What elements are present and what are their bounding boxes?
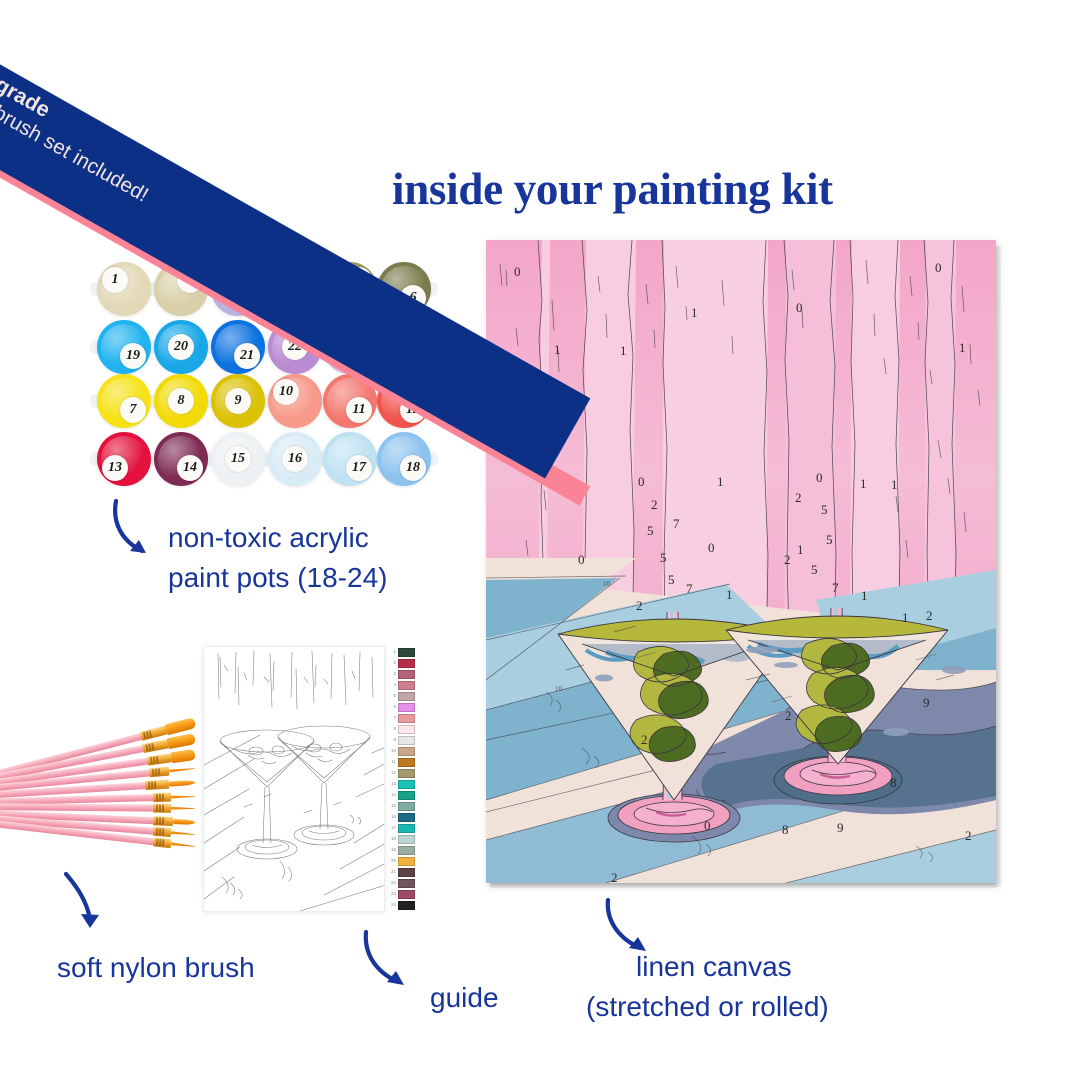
guide-swatch-chip-21: [398, 868, 415, 877]
guide-swatch-chip-14: [398, 791, 415, 800]
brush-ferrule: [153, 816, 173, 826]
guide-swatch-chip-8: [398, 725, 415, 734]
brush-ferrule-band: [149, 731, 152, 738]
guide-swatch-index: 16: [387, 815, 396, 820]
paint-pot-13[interactable]: 13: [97, 432, 151, 486]
guide-swatch-chip-15: [398, 802, 415, 811]
page-title: inside your painting kit: [392, 163, 833, 215]
guide-swatch-chip-20: [398, 857, 415, 866]
brush-bristle-tip: [166, 733, 196, 749]
brush-ferrule-band: [162, 828, 164, 835]
brush-ferrule-band: [156, 794, 158, 801]
brush-ferrule-band: [156, 805, 158, 812]
guide-swatch-index: 12: [387, 771, 396, 776]
paint-pot-number-label: 9: [225, 388, 251, 414]
brush-ferrule-band: [162, 818, 164, 825]
paint-pot-row: 123456: [97, 262, 429, 322]
brush-ferrule: [153, 793, 171, 802]
brush-ferrule-band: [159, 805, 161, 812]
brush-bristle-tip: [171, 842, 195, 848]
brush-ferrule-band: [148, 782, 150, 789]
brush-ferrule: [153, 804, 171, 813]
brush-ferrule-band: [162, 839, 164, 846]
paint-pot-number-label: 6: [400, 285, 426, 311]
paint-pot-row: 789101112: [97, 374, 429, 434]
guide-swatch-row: 21: [387, 868, 417, 877]
brush-ferrule-band: [155, 769, 157, 776]
paint-pot-7[interactable]: 7: [97, 374, 151, 428]
brush-bristle-tip: [169, 767, 195, 772]
brush-ferrule: [145, 780, 170, 790]
guide-swatch-index: 13: [387, 782, 396, 787]
brush-ferrule-band: [152, 769, 154, 776]
paint-pot-number-label: 15: [225, 446, 251, 472]
paint-pot-24[interactable]: 24: [377, 320, 431, 374]
guide-swatch-index: 17: [387, 826, 396, 831]
guide-swatch-row: 20: [387, 857, 417, 866]
guide-swatch-chip-9: [398, 736, 415, 745]
brush-ferrule-band: [156, 839, 158, 846]
paint-pot-10[interactable]: 10: [268, 374, 322, 428]
brush-ferrule-band: [158, 768, 160, 775]
paint-pot-number-label: 21: [234, 343, 260, 369]
paint-pot-number-label: 14: [177, 455, 203, 481]
guide-caption-text: guide: [430, 978, 499, 1018]
paint-pot-12[interactable]: 12: [377, 374, 431, 428]
guide-swatch-index: 8: [387, 727, 396, 732]
brush-ferrule-band: [159, 839, 161, 846]
guide-swatch-index: 2: [387, 661, 396, 666]
guide-swatch-row: 13: [387, 780, 417, 789]
guide-swatch-chip-23: [398, 890, 415, 899]
guide-swatch-chip-2: [398, 659, 415, 668]
guide-swatch-row: 3: [387, 670, 417, 679]
guide-swatch-row: 10: [387, 747, 417, 756]
guide-swatch-row: 12: [387, 769, 417, 778]
paint-pot-4[interactable]: 4: [268, 262, 322, 316]
paint-pot-23[interactable]: 23: [323, 320, 377, 374]
guide-swatch-row: 7: [387, 714, 417, 723]
guide-swatch-index: 1: [387, 650, 396, 655]
guide-swatch-index: 19: [387, 848, 396, 853]
canvas-caption: linen canvas (stretched or rolled): [636, 947, 879, 1027]
guide-swatch-index: 5: [387, 694, 396, 699]
guide-swatch-row: 22: [387, 879, 417, 888]
paint-pot-number-label: 18: [400, 455, 426, 481]
brush-set: [0, 672, 195, 862]
guide-swatch-row: 1: [387, 648, 417, 657]
guide-swatch-index: 7: [387, 716, 396, 721]
paint-pot-22[interactable]: 22: [268, 320, 322, 374]
paint-pots-caption-line1: non-toxic acrylic: [168, 518, 387, 558]
paint-pot-number-label: 8: [168, 388, 194, 414]
guide-swatch-chip-13: [398, 780, 415, 789]
paint-pot-number-label: 13: [102, 455, 128, 481]
paint-pot-3[interactable]: 3: [211, 262, 265, 316]
brush-bristle-tip: [169, 780, 195, 787]
guide-caption: guide: [430, 978, 499, 1018]
brush-bristle-tip: [171, 795, 195, 799]
guide-swatch-row: 11: [387, 758, 417, 767]
guide-swatch-row: 19: [387, 846, 417, 855]
paint-pot-number-label: 2: [177, 267, 203, 293]
brush-ferrule: [153, 827, 172, 837]
canvas-paint-by-numbers-art: [486, 240, 996, 883]
guide-swatch-chip-7: [398, 714, 415, 723]
guide-swatch-index: 14: [387, 793, 396, 798]
brush-ferrule-band: [156, 817, 158, 824]
canvas-bottom-edge: [490, 883, 996, 888]
guide-swatch-index: 23: [387, 892, 396, 897]
paint-pot-21[interactable]: 21: [211, 320, 265, 374]
brush-ferrule-band: [156, 828, 158, 835]
paint-pot-number-label: 19: [120, 343, 146, 369]
guide-swatch-row: 16: [387, 813, 417, 822]
guide-swatch-chip-24: [398, 901, 415, 910]
paint-pot-1[interactable]: 1: [97, 262, 151, 316]
guide-color-swatch-column: 123456789101112131415161718192021222324: [387, 648, 417, 910]
paint-pot-number-label: 7: [120, 397, 146, 423]
linen-canvas: 0100111001011225755557570121112222989802…: [486, 240, 996, 883]
brush-caption-text: soft nylon brush: [57, 948, 255, 988]
brush-caption: soft nylon brush: [57, 948, 255, 988]
guide-swatch-row: 15: [387, 802, 417, 811]
brush-ferrule-band: [159, 828, 161, 835]
canvas-caption-line1: linen canvas: [636, 947, 879, 987]
brush-ferrule-band: [151, 743, 154, 750]
guide-sheet: [203, 646, 385, 912]
guide-swatch-index: 6: [387, 705, 396, 710]
paint-pot-number-label: 12: [400, 397, 426, 423]
brush-ferrule-band: [162, 805, 164, 812]
guide-swatch-index: 24: [387, 903, 396, 908]
arrow-to-paint-pots: [108, 497, 168, 569]
guide-swatch-index: 22: [387, 881, 396, 886]
paint-pot-20[interactable]: 20: [154, 320, 208, 374]
paint-pots-caption: non-toxic acrylic paint pots (18-24): [168, 518, 387, 598]
guide-swatch-row: 5: [387, 692, 417, 701]
guide-swatch-index: 21: [387, 870, 396, 875]
paint-pot-2[interactable]: 2: [154, 262, 208, 316]
guide-line-art: [204, 647, 385, 912]
paint-pot-6[interactable]: 6: [377, 262, 431, 316]
guide-swatch-index: 18: [387, 837, 396, 842]
guide-swatch-row: 8: [387, 725, 417, 734]
paint-pot-19[interactable]: 19: [97, 320, 151, 374]
guide-swatch-chip-17: [398, 824, 415, 833]
paint-pot-11[interactable]: 11: [323, 374, 377, 428]
guide-swatch-chip-6: [398, 703, 415, 712]
canvas-artwork: 0100111001011225755557570121112222989802…: [486, 240, 996, 883]
paint-pot-number-label: 4: [282, 276, 308, 302]
brush-ferrule: [142, 739, 168, 753]
paint-pot-row: 131415161718: [97, 430, 429, 490]
brush-ferrule-band: [153, 757, 155, 764]
guide-swatch-chip-12: [398, 769, 415, 778]
paint-pot-number-label: 3: [234, 267, 260, 293]
guide-swatch-index: 3: [387, 672, 396, 677]
guide-swatch-chip-18: [398, 835, 415, 844]
paint-pot-15[interactable]: 15: [211, 432, 265, 486]
brush-ferrule-band: [159, 794, 161, 801]
brush-ferrule: [153, 837, 172, 848]
guide-swatch-chip-19: [398, 846, 415, 855]
brush-bristle-tip: [173, 819, 195, 825]
arrow-to-brushes: [60, 872, 116, 938]
paint-pot-number-label: 10: [273, 379, 299, 405]
guide-swatch-chip-5: [398, 692, 415, 701]
paint-pots-caption-line2: paint pots (18-24): [168, 558, 387, 598]
guide-swatch-row: 4: [387, 681, 417, 690]
guide-swatch-index: 10: [387, 749, 396, 754]
brush-bristle-tip: [165, 717, 197, 735]
guide-swatch-index: 9: [387, 738, 396, 743]
paint-pot-9[interactable]: 9: [211, 374, 265, 428]
guide-swatch-chip-22: [398, 879, 415, 888]
guide-swatch-chip-3: [398, 670, 415, 679]
guide-swatch-row: 24: [387, 901, 417, 910]
guide-swatch-chip-1: [398, 648, 415, 657]
brush-ferrule-band: [156, 756, 158, 763]
guide-swatch-row: 2: [387, 659, 417, 668]
paint-pot-18[interactable]: 18: [377, 432, 431, 486]
brush-ferrule-band: [162, 794, 164, 801]
paint-pot-number-label: 23: [337, 334, 363, 360]
guide-swatch-row: 17: [387, 824, 417, 833]
paint-pot-grid: 123456192021222324789101112131415161718: [97, 262, 429, 484]
paint-pot-number-label: 24: [400, 343, 426, 369]
arrow-to-guide: [360, 930, 422, 996]
brush-ferrule-band: [154, 781, 156, 788]
guide-swatch-index: 20: [387, 859, 396, 864]
brush-ferrule: [140, 726, 167, 741]
guide-swatch-row: 6: [387, 703, 417, 712]
guide-swatch-index: 15: [387, 804, 396, 809]
paint-pot-number-label: 17: [346, 455, 372, 481]
paint-pot-16[interactable]: 16: [268, 432, 322, 486]
paint-pot-17[interactable]: 17: [323, 432, 377, 486]
brush-ferrule-band: [159, 817, 161, 824]
guide-swatch-row: 23: [387, 890, 417, 899]
canvas-caption-line2: (stretched or rolled): [586, 987, 829, 1027]
paint-pot-number-label: 5: [346, 267, 372, 293]
guide-swatch-chip-10: [398, 747, 415, 756]
paint-pot-number-label: 20: [168, 334, 194, 360]
guide-swatch-row: 14: [387, 791, 417, 800]
paint-pot-number-label: 22: [282, 334, 308, 360]
paint-pot-number-label: 1: [102, 267, 128, 293]
guide-swatch-chip-16: [398, 813, 415, 822]
guide-swatch-row: 9: [387, 736, 417, 745]
brush-bristle-tip: [171, 831, 195, 836]
brush-ferrule: [147, 753, 172, 765]
brush-bristle-tip: [170, 749, 195, 763]
brush-bristle-tip: [171, 807, 195, 810]
paint-pot-number-label: 11: [346, 397, 372, 423]
brush-ferrule-band: [150, 757, 152, 764]
paint-pot-row: 192021222324: [97, 318, 429, 378]
guide-swatch-chip-4: [398, 681, 415, 690]
guide-swatch-row: 18: [387, 835, 417, 844]
guide-swatch-index: 4: [387, 683, 396, 688]
paint-pot-8[interactable]: 8: [154, 374, 208, 428]
brush-ferrule: [149, 767, 170, 778]
guide-swatch-chip-11: [398, 758, 415, 767]
brush-ferrule-band: [151, 782, 153, 789]
guide-swatch-index: 11: [387, 760, 396, 765]
paint-pot-5[interactable]: 5: [323, 262, 377, 316]
paint-pot-14[interactable]: 14: [154, 432, 208, 486]
paint-pot-number-label: 16: [282, 446, 308, 472]
